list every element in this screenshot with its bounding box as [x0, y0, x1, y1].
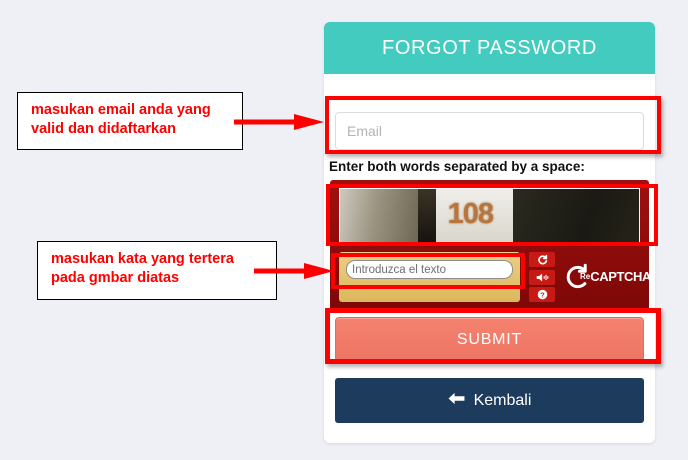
captcha-image-strip: [418, 189, 436, 243]
recaptcha-wordmark: ReCAPTCHA™: [580, 268, 657, 286]
captcha-controls: ?: [529, 252, 555, 302]
email-field-row: [324, 100, 655, 162]
recaptcha-logo: ReCAPTCHA™: [563, 258, 643, 296]
captcha-input-well: [339, 252, 520, 302]
captcha-answer-row: ? ReCAPTCHA™: [339, 252, 640, 302]
recaptcha-brand-prefix: Re: [580, 272, 590, 281]
help-icon[interactable]: ?: [529, 287, 555, 302]
recaptcha-brand-tm: ™: [651, 271, 657, 277]
captcha-challenge-image: 108: [339, 188, 640, 244]
captcha-answer-input[interactable]: [346, 260, 513, 279]
captcha-challenge-text: 108: [448, 198, 493, 231]
annotation-arrow-email: [233, 113, 327, 136]
recaptcha-brand-name: CAPTCHA: [590, 269, 651, 284]
captcha-image-strip: [340, 189, 418, 243]
captcha-image-strip: [513, 189, 639, 243]
recaptcha-widget: 108: [330, 180, 649, 310]
arrow-left-icon: [448, 391, 465, 411]
card-header: FORGOT PASSWORD: [324, 22, 655, 74]
captcha-prompt-label: Enter both words separated by a space:: [329, 159, 585, 174]
annotation-box-captcha: masukan kata yang tertera pada gmbar dia…: [37, 241, 277, 300]
refresh-icon[interactable]: [529, 252, 555, 267]
submit-button[interactable]: SUBMIT: [335, 317, 644, 362]
forgot-password-card: FORGOT PASSWORD Enter both words separat…: [324, 22, 655, 443]
back-button[interactable]: Kembali: [335, 378, 644, 423]
back-button-label: Kembali: [474, 392, 532, 410]
page-title: FORGOT PASSWORD: [382, 37, 597, 60]
audio-icon[interactable]: [529, 270, 555, 285]
annotation-text: masukan email anda yang valid dan didaft…: [31, 101, 242, 139]
email-input[interactable]: [335, 112, 644, 150]
svg-text:?: ?: [540, 290, 544, 299]
annotation-text: masukan kata yang tertera pada gmbar dia…: [51, 250, 276, 288]
annotation-box-email: masukan email anda yang valid dan didaft…: [17, 92, 243, 150]
